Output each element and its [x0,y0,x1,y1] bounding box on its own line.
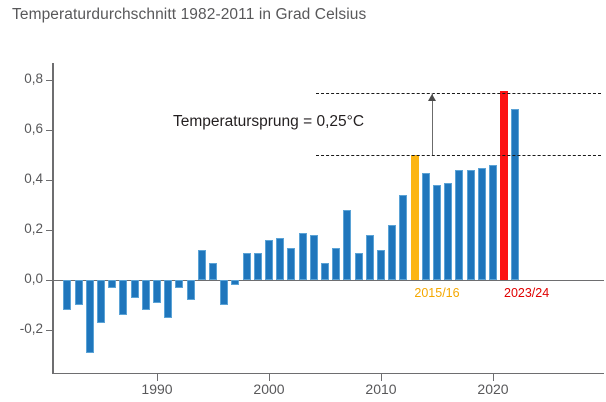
y-tick-mark [46,180,53,181]
bar-1996 [220,280,228,305]
dashed-line-lower [316,155,601,156]
bar-2019 [478,168,486,281]
x-tick-mark [269,374,270,381]
x-tick-mark [493,374,494,381]
bar-2016 [444,183,452,281]
bar-1997 [231,280,239,285]
temperature-jump-arrow-head [428,94,436,101]
bar-2002 [287,248,295,281]
bar-2009 [366,235,374,280]
y-tick-label: 0,6 [0,121,43,136]
y-tick-label: 0,4 [0,171,43,186]
bar-1989 [142,280,150,310]
temperature-jump-arrow-shaft [432,93,433,156]
x-tick-label: 2020 [477,381,508,397]
y-tick-label: -0,2 [0,321,43,336]
bar-1991 [164,280,172,318]
y-tick-mark [46,280,53,281]
bar-1990 [153,280,161,303]
bar-1984 [86,280,94,353]
bar-1982 [63,280,71,310]
bar-1993 [187,280,195,300]
bar-2022 [511,109,519,280]
bar-1985 [97,280,105,323]
bar-2015 [433,185,441,280]
bar-2003 [299,233,307,281]
y-tick-mark [46,130,53,131]
y-tick-label: 0,8 [0,71,43,86]
x-tick-label: 1990 [141,381,172,397]
bar-2006 [332,248,340,281]
bar-1998 [243,253,251,281]
highlight-label-2015-16: 2015/16 [414,286,459,300]
bar-2012 [399,195,407,280]
highlight-label-2023-24: 2023/24 [504,286,549,300]
x-axis-line [52,373,604,374]
bar-2001 [276,238,284,281]
bar-2017 [455,170,463,280]
x-tick-mark [381,374,382,381]
bar-1995 [209,263,217,281]
bar-1983 [75,280,83,305]
bar-2011 [388,225,396,280]
x-tick-mark [157,374,158,381]
bar-1986 [108,280,116,288]
bar-2008 [355,253,363,281]
bar-2013 [411,155,419,280]
x-tick-label: 2000 [253,381,284,397]
y-tick-mark [46,330,53,331]
y-axis-line [52,63,54,374]
y-tick-label: 0,0 [0,271,43,286]
chart-root: Temperaturdurchschnitt 1982-2011 in Grad… [0,0,606,402]
bar-1999 [254,253,262,281]
bar-2007 [343,210,351,280]
y-tick-mark [46,80,53,81]
bar-1994 [198,250,206,280]
plot-area: 0,80,60,40,20,0-0,2 1990200020102020 Tem… [0,0,606,402]
bar-1987 [119,280,127,315]
bar-2000 [265,240,273,280]
bar-2004 [310,235,318,280]
temperature-jump-label: Temperatursprung = 0,25°C [173,113,364,131]
bar-2010 [377,250,385,280]
bar-1988 [131,280,139,298]
bar-2021 [500,91,508,280]
bar-2014 [422,173,430,281]
y-tick-label: 0,2 [0,221,43,236]
bar-2020 [489,165,497,280]
bar-2005 [321,263,329,281]
y-tick-mark [46,230,53,231]
bar-1992 [175,280,183,288]
dashed-line-upper [316,93,601,94]
bar-2018 [467,170,475,280]
x-tick-label: 2010 [365,381,396,397]
